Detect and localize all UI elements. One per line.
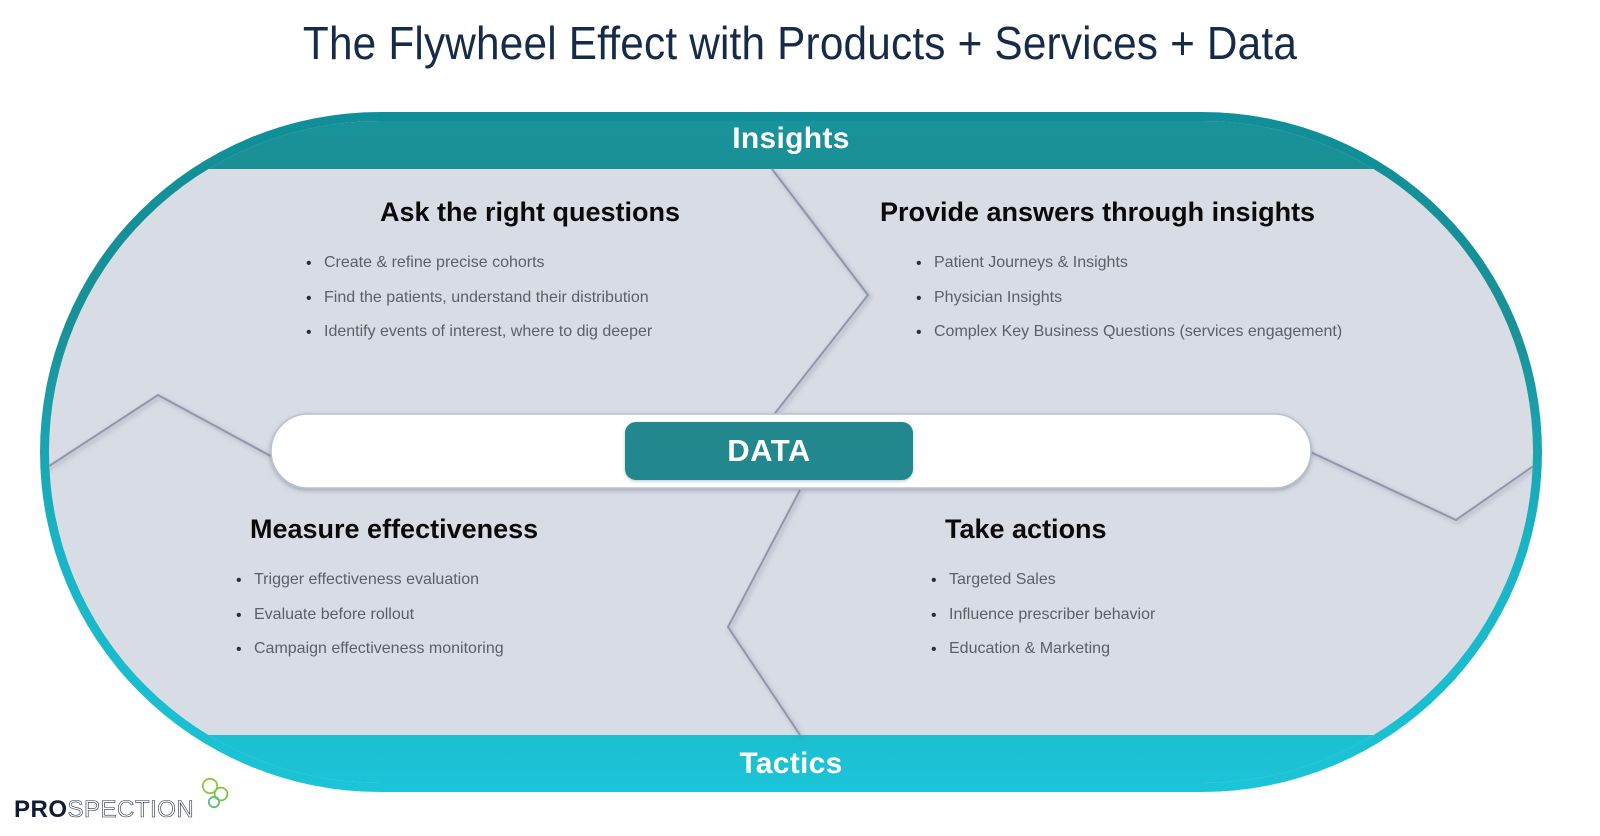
quadrant-heading: Measure effectiveness — [200, 514, 720, 545]
bullet-icon: • — [236, 641, 242, 659]
list-item-label: Influence prescriber behavior — [949, 606, 1155, 623]
list-item: •Influence prescriber behavior — [949, 606, 1415, 624]
list-item-label: Identify events of interest, where to di… — [324, 323, 652, 340]
quadrant-measure-effectiveness: Measure effectiveness •Trigger effective… — [200, 514, 720, 675]
list-item-label: Evaluate before rollout — [254, 606, 414, 623]
list-item-label: Complex Key Business Questions (services… — [934, 323, 1342, 340]
quadrant-bullet-list: •Patient Journeys & Insights •Physician … — [880, 254, 1400, 341]
bullet-icon: • — [236, 607, 242, 625]
list-item: •Patient Journeys & Insights — [934, 254, 1400, 272]
bullet-icon: • — [916, 324, 922, 342]
list-item: •Evaluate before rollout — [254, 606, 720, 624]
quadrant-bullet-list: •Targeted Sales •Influence prescriber be… — [895, 571, 1415, 658]
logo-bubbles-icon — [198, 777, 232, 816]
quadrant-take-actions: Take actions •Targeted Sales •Influence … — [895, 514, 1415, 675]
list-item-label: Targeted Sales — [949, 571, 1056, 588]
list-item-label: Physician Insights — [934, 289, 1062, 306]
list-item: •Campaign effectiveness monitoring — [254, 640, 720, 658]
quadrant-provide-answers-through-insights: Provide answers through insights •Patien… — [880, 197, 1400, 358]
list-item-label: Create & refine precise cohorts — [324, 254, 545, 271]
quadrant-heading: Ask the right questions — [270, 197, 790, 228]
list-item: •Education & Marketing — [949, 640, 1415, 658]
bullet-icon: • — [306, 255, 312, 273]
page-title: The Flywheel Effect with Products + Serv… — [64, 16, 1536, 70]
logo-text-bold: PRO — [14, 798, 68, 822]
list-item-label: Patient Journeys & Insights — [934, 254, 1128, 271]
quadrant-bullet-list: •Create & refine precise cohorts •Find t… — [270, 254, 790, 341]
bullet-icon: • — [931, 641, 937, 659]
list-item: •Identify events of interest, where to d… — [324, 323, 790, 341]
bullet-icon: • — [306, 290, 312, 308]
list-item-label: Find the patients, understand their dist… — [324, 289, 649, 306]
bullet-icon: • — [306, 324, 312, 342]
list-item: •Targeted Sales — [949, 571, 1415, 589]
logo-text-light: SPECTION — [68, 798, 195, 822]
list-item: •Create & refine precise cohorts — [324, 254, 790, 272]
bullet-icon: • — [931, 572, 937, 590]
list-item: •Trigger effectiveness evaluation — [254, 571, 720, 589]
bullet-icon: • — [916, 255, 922, 273]
list-item-label: Campaign effectiveness monitoring — [254, 640, 504, 657]
list-item: •Physician Insights — [934, 289, 1400, 307]
bullet-icon: • — [916, 290, 922, 308]
prospection-logo: PRO SPECTION — [14, 782, 232, 822]
quadrant-heading: Take actions — [895, 514, 1415, 545]
bullet-icon: • — [236, 572, 242, 590]
list-item-label: Trigger effectiveness evaluation — [254, 571, 479, 588]
list-item: •Complex Key Business Questions (service… — [934, 323, 1400, 341]
quadrant-bullet-list: •Trigger effectiveness evaluation •Evalu… — [200, 571, 720, 658]
quadrant-heading: Provide answers through insights — [880, 197, 1400, 228]
list-item-label: Education & Marketing — [949, 640, 1110, 657]
flywheel-diagram: Insights Tactics DATA Ask the right ques… — [40, 112, 1542, 792]
quadrant-ask-the-right-questions: Ask the right questions •Create & refine… — [270, 197, 790, 358]
list-item: •Find the patients, understand their dis… — [324, 289, 790, 307]
data-badge: DATA — [625, 422, 913, 480]
bullet-icon: • — [931, 607, 937, 625]
